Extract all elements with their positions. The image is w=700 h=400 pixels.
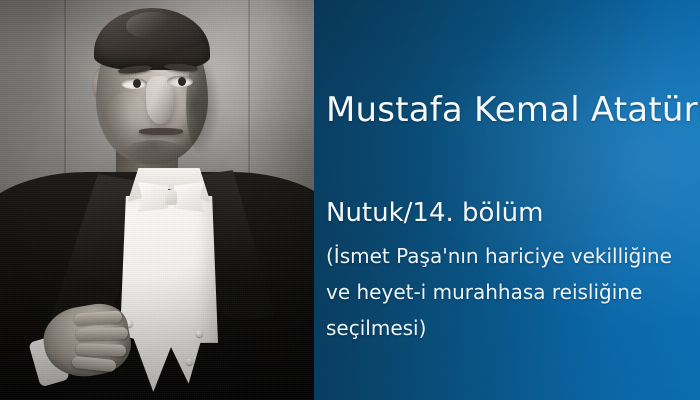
hair-part [126, 12, 172, 38]
pupil-left [133, 79, 141, 88]
page-subtitle: Nutuk/14. bölüm [326, 197, 543, 229]
description-line-3: seçilmesi) [326, 310, 698, 346]
portrait-figure [0, 0, 314, 400]
bow-tie-wing-right [174, 182, 204, 212]
nose [146, 76, 174, 124]
bow-tie [138, 182, 204, 212]
chin-shadow [124, 140, 186, 166]
finger [76, 343, 126, 357]
finger [76, 327, 128, 341]
pupil-right [178, 77, 186, 86]
mouth [139, 128, 183, 135]
page-description: (İsmet Paşa'nın hariciye vekilliğine ve … [326, 238, 698, 346]
bow-tie-knot [165, 190, 177, 205]
waistcoat-button [186, 358, 193, 365]
page-title: Mustafa Kemal Atatürk [326, 90, 700, 130]
waistcoat-button [196, 330, 203, 337]
description-line-1: (İsmet Paşa'nın hariciye vekilliğine [326, 238, 698, 274]
description-line-2: ve heyet-i murahhasa reisliğine [326, 274, 698, 310]
article-banner: Mustafa Kemal Atatürk Nutuk/14. bölüm (İ… [0, 0, 700, 400]
portrait-photo [0, 0, 314, 400]
bow-tie-wing-left [138, 182, 168, 212]
text-panel: Mustafa Kemal Atatürk Nutuk/14. bölüm (İ… [314, 0, 700, 400]
